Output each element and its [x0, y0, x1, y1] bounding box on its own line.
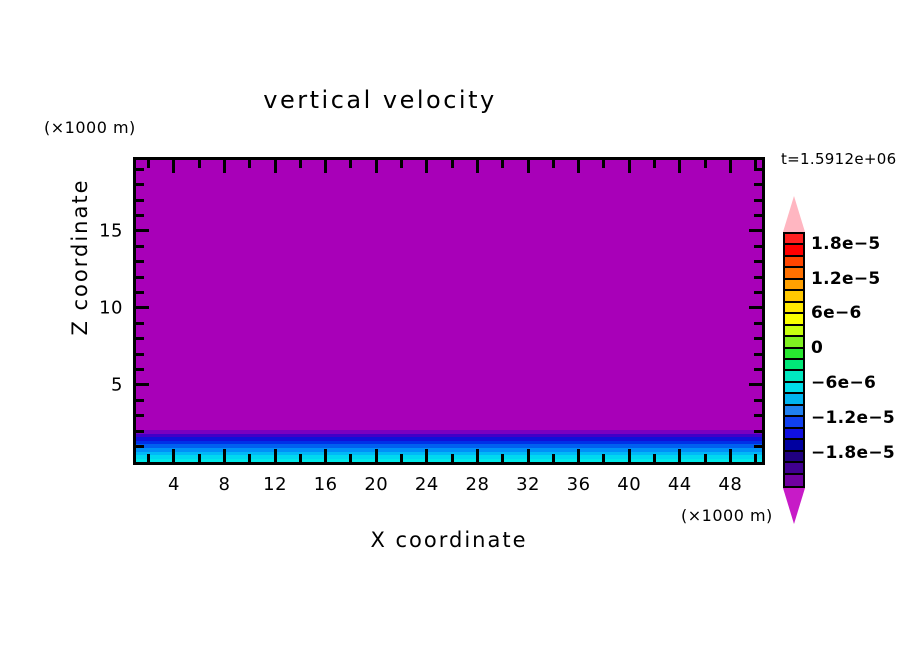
x-tick — [198, 160, 201, 168]
colorbar-band — [785, 440, 803, 451]
y-tick — [136, 199, 144, 202]
colorbar-band — [785, 280, 803, 291]
y-tick — [754, 168, 762, 171]
x-tick — [248, 160, 251, 168]
field-layer-layer-cyan-bright — [136, 459, 762, 462]
y-tick — [754, 260, 762, 263]
x-tick — [375, 160, 378, 173]
x-tick — [349, 454, 352, 462]
colorbar-tick-label: −1.8e−5 — [811, 443, 895, 463]
x-tick — [577, 160, 580, 173]
colorbar-band — [785, 429, 803, 440]
colorbar-band — [785, 291, 803, 302]
x-tick-label: 4 — [168, 474, 180, 495]
y-axis-title: Z coordinate — [68, 137, 92, 377]
x-tick — [704, 160, 707, 168]
colorbar-band — [785, 417, 803, 428]
time-annotation: t=1.5912e+06 — [781, 150, 896, 168]
x-tick — [425, 160, 428, 173]
y-tick — [136, 291, 144, 294]
colorbar-over-cap — [783, 196, 805, 232]
y-tick — [754, 291, 762, 294]
y-tick — [136, 214, 144, 217]
x-tick — [678, 160, 681, 173]
x-tick-label: 36 — [567, 474, 591, 495]
colorbar-band — [785, 337, 803, 348]
y-tick — [136, 276, 144, 279]
x-tick-label: 32 — [516, 474, 540, 495]
y-tick — [749, 229, 762, 232]
x-tick — [451, 160, 454, 168]
colorbar-band — [785, 245, 803, 256]
x-tick-label: 16 — [314, 474, 338, 495]
x-tick — [577, 449, 580, 462]
y-tick — [136, 183, 144, 186]
x-tick — [754, 454, 757, 462]
x-tick — [172, 160, 175, 173]
x-tick-label: 12 — [263, 474, 287, 495]
y-tick — [754, 337, 762, 340]
x-tick — [602, 454, 605, 462]
colorbar-band — [785, 314, 803, 325]
colorbar-tick-label: 6e−6 — [811, 303, 862, 323]
x-tick-label: 40 — [617, 474, 641, 495]
y-tick — [754, 183, 762, 186]
x-tick — [274, 160, 277, 173]
colorbar-under-cap — [783, 488, 805, 524]
x-tick — [527, 449, 530, 462]
y-tick-label: 5 — [87, 374, 123, 395]
colorbar-band — [785, 257, 803, 268]
x-tick — [400, 160, 403, 168]
x-tick — [274, 449, 277, 462]
x-axis-unit-label: (×1000 m) — [681, 506, 773, 525]
colorbar-band — [785, 475, 803, 486]
x-tick-label: 20 — [364, 474, 388, 495]
x-tick — [198, 454, 201, 462]
x-tick-label: 44 — [668, 474, 692, 495]
field-layer-upper-field — [136, 160, 762, 430]
x-tick — [299, 160, 302, 168]
x-tick — [375, 449, 378, 462]
heatmap-field — [136, 160, 762, 462]
y-tick — [749, 383, 762, 386]
x-tick — [476, 160, 479, 173]
y-tick — [136, 260, 144, 263]
y-tick — [754, 199, 762, 202]
colorbar-band — [785, 268, 803, 279]
y-tick — [754, 353, 762, 356]
x-tick — [425, 449, 428, 462]
x-tick — [628, 449, 631, 462]
y-tick — [754, 276, 762, 279]
x-tick — [628, 160, 631, 173]
x-tick-label: 24 — [415, 474, 439, 495]
y-tick — [136, 306, 149, 309]
colorbar-tick-label: −1.2e−5 — [811, 408, 895, 428]
colorbar-band — [785, 303, 803, 314]
x-tick — [602, 160, 605, 168]
x-tick — [223, 160, 226, 173]
y-tick — [136, 322, 144, 325]
colorbar — [783, 196, 805, 524]
colorbar-band — [785, 463, 803, 474]
y-tick-label: 15 — [87, 220, 123, 241]
y-tick — [754, 445, 762, 448]
x-tick — [501, 160, 504, 168]
colorbar-band — [785, 452, 803, 463]
x-tick-label: 8 — [219, 474, 231, 495]
x-tick — [299, 454, 302, 462]
x-tick — [324, 449, 327, 462]
x-tick — [501, 454, 504, 462]
x-tick — [172, 449, 175, 462]
y-tick — [136, 445, 144, 448]
y-axis-unit-label: (×1000 m) — [44, 118, 136, 137]
y-tick — [754, 322, 762, 325]
y-tick — [136, 168, 144, 171]
x-tick — [324, 160, 327, 173]
page-title: vertical velocity — [0, 86, 760, 114]
y-tick — [136, 430, 144, 433]
y-tick — [136, 353, 144, 356]
y-tick — [754, 245, 762, 248]
colorbar-band — [785, 360, 803, 371]
x-tick — [147, 454, 150, 462]
x-tick — [552, 160, 555, 168]
x-tick — [147, 160, 150, 168]
x-tick — [704, 454, 707, 462]
y-tick — [136, 245, 144, 248]
colorbar-band — [785, 349, 803, 360]
colorbar-band — [785, 234, 803, 245]
plot-area — [133, 157, 765, 465]
x-tick — [653, 160, 656, 168]
colorbar-band — [785, 383, 803, 394]
x-tick — [248, 454, 251, 462]
x-tick — [678, 449, 681, 462]
colorbar-band — [785, 406, 803, 417]
y-tick — [136, 414, 144, 417]
y-tick — [754, 214, 762, 217]
x-tick — [476, 449, 479, 462]
x-tick — [552, 454, 555, 462]
y-tick-label: 10 — [87, 297, 123, 318]
x-tick-label: 48 — [718, 474, 742, 495]
colorbar-tick-label: 1.2e−5 — [811, 269, 881, 289]
x-tick — [349, 160, 352, 168]
y-tick — [754, 399, 762, 402]
x-tick — [729, 160, 732, 173]
colorbar-bands — [783, 232, 805, 488]
colorbar-band — [785, 371, 803, 382]
y-tick — [754, 368, 762, 371]
colorbar-tick-label: 1.8e−5 — [811, 234, 881, 254]
x-tick — [653, 454, 656, 462]
colorbar-tick-label: −6e−6 — [811, 373, 876, 393]
x-axis-title: X coordinate — [133, 528, 765, 552]
x-tick-label: 28 — [466, 474, 490, 495]
x-tick — [400, 454, 403, 462]
y-tick — [136, 368, 144, 371]
y-tick — [754, 414, 762, 417]
y-tick — [136, 383, 149, 386]
colorbar-band — [785, 326, 803, 337]
x-tick — [451, 454, 454, 462]
y-tick — [136, 399, 144, 402]
y-tick — [136, 337, 144, 340]
y-tick — [749, 306, 762, 309]
colorbar-tick-label: 0 — [811, 338, 823, 358]
x-tick — [729, 449, 732, 462]
y-tick — [136, 229, 149, 232]
x-tick — [223, 449, 226, 462]
colorbar-band — [785, 394, 803, 405]
x-tick — [527, 160, 530, 173]
y-tick — [754, 430, 762, 433]
